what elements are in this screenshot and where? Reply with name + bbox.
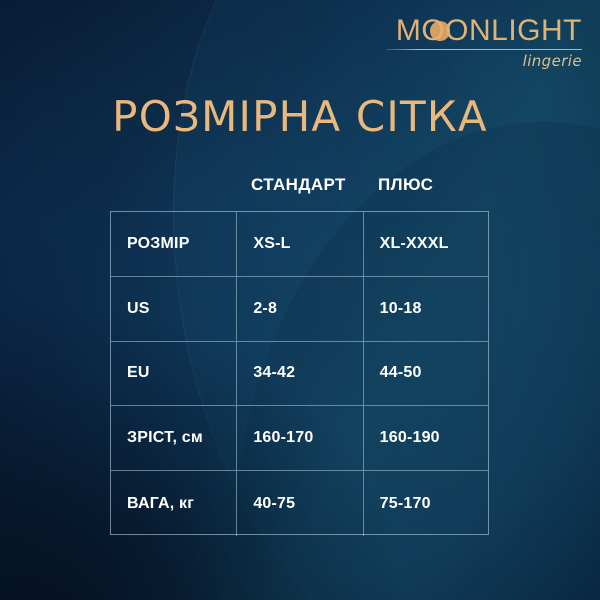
row-standard: 160-170 bbox=[237, 406, 363, 470]
column-caption-plus: ПЛЮС bbox=[378, 172, 433, 198]
brand-wordmark: MOONLIGHT bbox=[386, 14, 582, 48]
column-captions: СТАНДАРТ ПЛЮС bbox=[237, 172, 489, 202]
size-table: РОЗМІР XS-L XL-XXXL US 2-8 10-18 EU 34-4… bbox=[110, 211, 489, 535]
row-label: ВАГА, кг bbox=[111, 471, 237, 536]
row-standard: 40-75 bbox=[237, 471, 363, 536]
row-plus: 160-190 bbox=[364, 406, 488, 470]
row-plus: 44-50 bbox=[364, 342, 488, 406]
table-row: ЗРІСТ, см 160-170 160-190 bbox=[111, 406, 488, 471]
row-plus: XL-XXXL bbox=[364, 212, 488, 276]
size-chart-graphic: MOONLIGHT lingerie РОЗМІРНА СІТКА СТАНДА… bbox=[0, 0, 600, 600]
table-row: РОЗМІР XS-L XL-XXXL bbox=[111, 212, 488, 277]
row-plus: 10-18 bbox=[364, 277, 488, 341]
page-title: РОЗМІРНА СІТКА bbox=[0, 94, 600, 140]
brand-underline bbox=[386, 49, 582, 50]
table-row: US 2-8 10-18 bbox=[111, 277, 488, 342]
brand-tagline: lingerie bbox=[386, 52, 582, 70]
row-label: US bbox=[111, 277, 237, 341]
row-label: РОЗМІР bbox=[111, 212, 237, 276]
row-label: EU bbox=[111, 342, 237, 406]
brand-wordmark-text: MOONLIGHT bbox=[396, 14, 582, 47]
table-row: EU 34-42 44-50 bbox=[111, 342, 488, 407]
row-standard: XS-L bbox=[237, 212, 363, 276]
row-standard: 34-42 bbox=[237, 342, 363, 406]
row-label: ЗРІСТ, см bbox=[111, 406, 237, 470]
table-row: ВАГА, кг 40-75 75-170 bbox=[111, 471, 488, 536]
row-standard: 2-8 bbox=[237, 277, 363, 341]
brand-logo: MOONLIGHT lingerie bbox=[386, 14, 582, 70]
column-caption-standard: СТАНДАРТ bbox=[251, 172, 346, 198]
row-plus: 75-170 bbox=[364, 471, 488, 536]
